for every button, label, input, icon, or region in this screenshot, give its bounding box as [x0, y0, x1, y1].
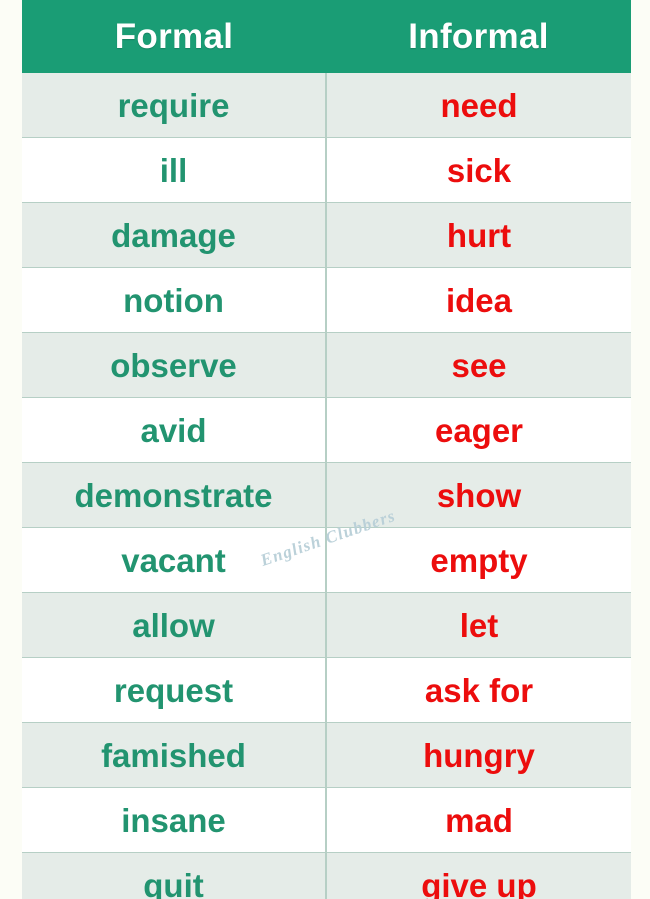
table-header: Formal Informal	[22, 0, 631, 73]
table-row: demonstrateshow	[22, 463, 631, 528]
formal-word-cell: ill	[22, 138, 326, 203]
formal-informal-table: Formal Informal requireneedillsickdamage…	[22, 0, 631, 899]
informal-word-cell: empty	[326, 528, 631, 593]
informal-word-cell: show	[326, 463, 631, 528]
informal-word-cell: need	[326, 73, 631, 138]
formal-word-cell: request	[22, 658, 326, 723]
table-row: requireneed	[22, 73, 631, 138]
formal-word-cell: require	[22, 73, 326, 138]
formal-word-cell: famished	[22, 723, 326, 788]
formal-word-cell: insane	[22, 788, 326, 853]
table-row: avideager	[22, 398, 631, 463]
informal-word-cell: give up	[326, 853, 631, 899]
table-row: damagehurt	[22, 203, 631, 268]
header-row: Formal Informal	[22, 0, 631, 73]
informal-word-cell: see	[326, 333, 631, 398]
table-body: requireneedillsickdamagehurtnotionideaob…	[22, 73, 631, 899]
table-row: observesee	[22, 333, 631, 398]
column-header-informal: Informal	[326, 0, 631, 73]
informal-word-cell: mad	[326, 788, 631, 853]
column-header-formal: Formal	[22, 0, 326, 73]
table-row: illsick	[22, 138, 631, 203]
informal-word-cell: sick	[326, 138, 631, 203]
table-row: quitgive up	[22, 853, 631, 899]
formal-word-cell: notion	[22, 268, 326, 333]
informal-word-cell: hurt	[326, 203, 631, 268]
formal-word-cell: demonstrate	[22, 463, 326, 528]
informal-word-cell: let	[326, 593, 631, 658]
table-row: notionidea	[22, 268, 631, 333]
formal-word-cell: vacant	[22, 528, 326, 593]
formal-word-cell: observe	[22, 333, 326, 398]
table-row: insanemad	[22, 788, 631, 853]
formal-word-cell: damage	[22, 203, 326, 268]
informal-word-cell: eager	[326, 398, 631, 463]
informal-word-cell: ask for	[326, 658, 631, 723]
table-row: requestask for	[22, 658, 631, 723]
informal-word-cell: idea	[326, 268, 631, 333]
formal-word-cell: avid	[22, 398, 326, 463]
formal-word-cell: quit	[22, 853, 326, 899]
table-row: famishedhungry	[22, 723, 631, 788]
table-row: vacantempty	[22, 528, 631, 593]
table-row: allowlet	[22, 593, 631, 658]
vocabulary-table-page: Formal Informal requireneedillsickdamage…	[0, 0, 650, 899]
formal-word-cell: allow	[22, 593, 326, 658]
informal-word-cell: hungry	[326, 723, 631, 788]
